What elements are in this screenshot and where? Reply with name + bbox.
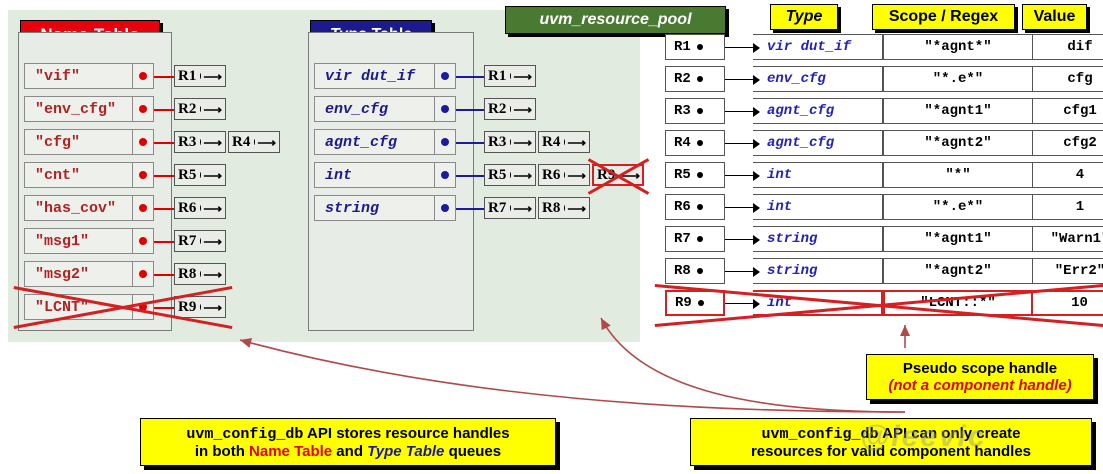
bottom-left-l2b: and bbox=[332, 443, 367, 460]
bottom-left-type-table: Type Table bbox=[367, 443, 444, 460]
bottom-right-line1: uvm_config_db API can only create bbox=[761, 425, 1020, 443]
bottom-right-line1-rest: API can only create bbox=[879, 425, 1021, 442]
pseudo-scope-line1: Pseudo scope handle bbox=[903, 360, 1057, 377]
bottom-left-line2: in both Name Table and Type Table queues bbox=[195, 443, 501, 460]
arrow-to-type-table-r9 bbox=[601, 318, 905, 412]
connector-arrows bbox=[0, 0, 1103, 474]
arrow-to-name-table-r9 bbox=[240, 340, 905, 412]
bottom-left-l2a: in both bbox=[195, 443, 249, 460]
bottom-right-line2: resources for valid component handles bbox=[751, 443, 1031, 460]
bottom-left-l2c: queues bbox=[444, 443, 501, 460]
bottom-left-callout: uvm_config_db API stores resource handle… bbox=[140, 418, 556, 466]
bottom-left-line1-rest: API stores resource handles bbox=[303, 425, 509, 442]
bottom-left-name-table: Name Table bbox=[249, 443, 332, 460]
bottom-right-callout: uvm_config_db API can only create resour… bbox=[690, 418, 1092, 466]
bottom-left-api: uvm_config_db bbox=[186, 426, 303, 443]
pseudo-scope-callout: Pseudo scope handle (not a component han… bbox=[866, 354, 1094, 400]
bottom-left-line1: uvm_config_db API stores resource handle… bbox=[186, 425, 509, 443]
pseudo-scope-line2: (not a component handle) bbox=[888, 377, 1071, 394]
bottom-right-api: uvm_config_db bbox=[761, 426, 878, 443]
